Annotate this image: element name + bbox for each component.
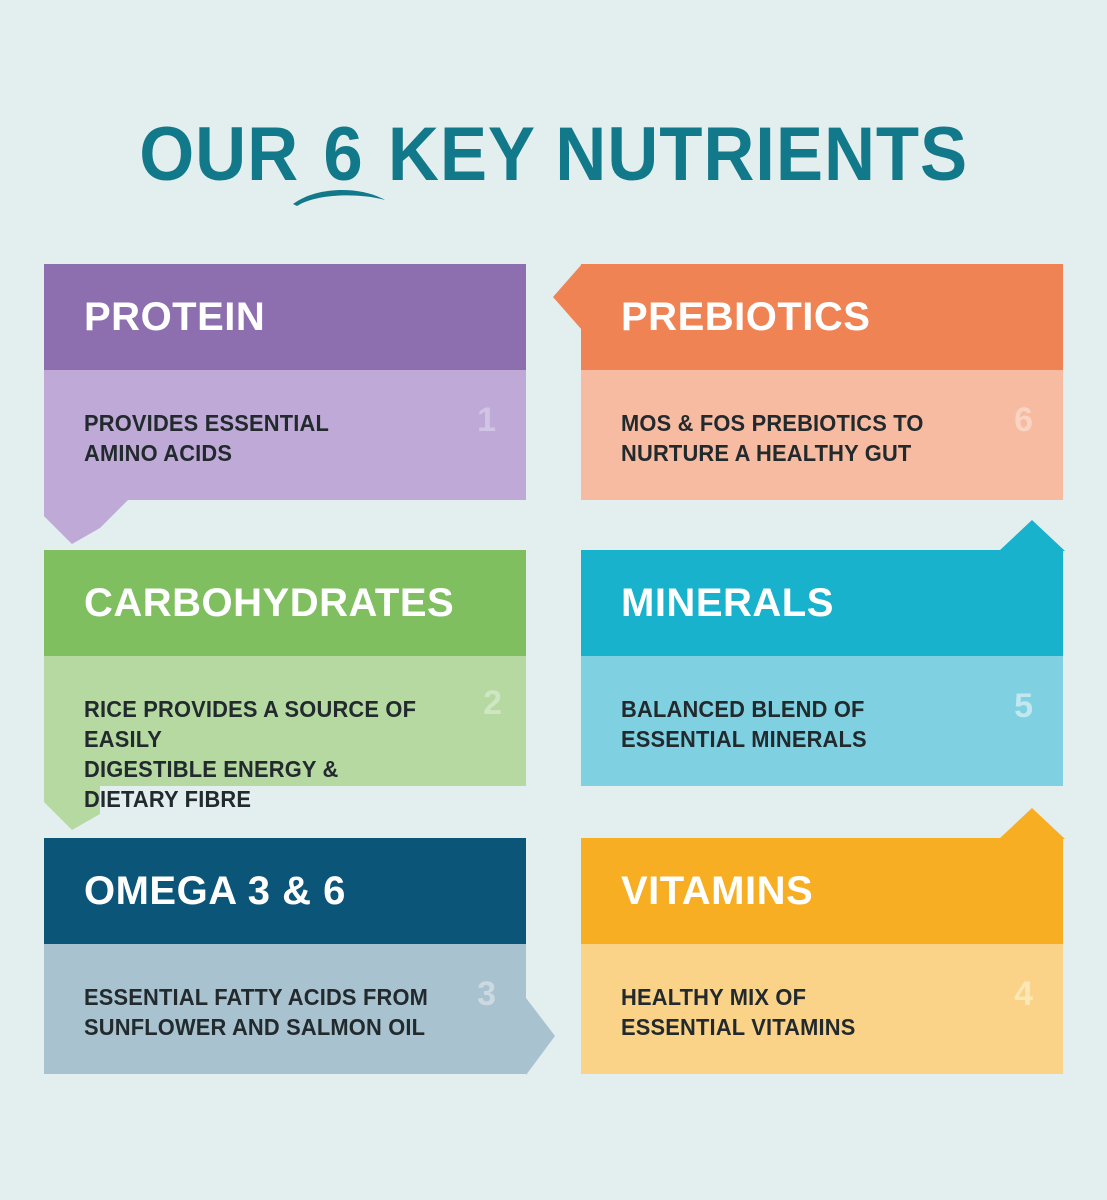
card-minerals-body: BALANCED BLEND OF ESSENTIAL MINERALS 5 [581, 656, 1063, 786]
card-carbohydrates[interactable]: CARBOHYDRATES RICE PROVIDES A SOURCE OF … [44, 550, 526, 786]
card-prebiotics-number: 6 [1014, 403, 1033, 437]
card-minerals-number: 5 [1014, 689, 1033, 723]
card-vitamins-header: VITAMINS [581, 838, 1063, 944]
card-prebiotics-header: PREBIOTICS [581, 264, 1063, 370]
card-omega-3-and-6-number: 3 [477, 977, 496, 1011]
nutrients-grid: PROTEIN PROVIDES ESSENTIAL AMINO ACIDS 1… [0, 0, 1107, 1200]
card-omega-3-and-6-header: OMEGA 3 & 6 [44, 838, 526, 944]
card-minerals-title: MINERALS [621, 581, 834, 625]
card-prebiotics-description: MOS & FOS PREBIOTICS TO NURTURE A HEALTH… [621, 408, 973, 468]
card-omega-3-and-6-title: OMEGA 3 & 6 [84, 869, 346, 913]
card-vitamins[interactable]: VITAMINS HEALTHY MIX OF ESSENTIAL VITAMI… [581, 838, 1063, 1074]
tail-left-prebiotics [553, 264, 582, 330]
card-minerals[interactable]: MINERALS BALANCED BLEND OF ESSENTIAL MIN… [581, 550, 1063, 786]
card-carbohydrates-number: 2 [483, 686, 502, 720]
tail-up-right-vitamins [999, 808, 1065, 839]
card-protein-number: 1 [477, 403, 496, 437]
card-protein-body: PROVIDES ESSENTIAL AMINO ACIDS 1 [44, 370, 526, 500]
card-vitamins-number: 4 [1014, 977, 1033, 1011]
card-carbohydrates-body: RICE PROVIDES A SOURCE OF EASILY DIGESTI… [44, 656, 526, 786]
card-carbohydrates-title: CARBOHYDRATES [84, 581, 454, 625]
card-prebiotics[interactable]: PREBIOTICS MOS & FOS PREBIOTICS TO NURTU… [581, 264, 1063, 500]
card-prebiotics-title: PREBIOTICS [621, 295, 870, 339]
card-protein-description: PROVIDES ESSENTIAL AMINO ACIDS [84, 408, 436, 468]
card-minerals-description: BALANCED BLEND OF ESSENTIAL MINERALS [621, 694, 973, 754]
card-minerals-header: MINERALS [581, 550, 1063, 656]
card-vitamins-title: VITAMINS [621, 869, 813, 913]
card-vitamins-body: HEALTHY MIX OF ESSENTIAL VITAMINS 4 [581, 944, 1063, 1074]
tail-down-left-protein [44, 500, 128, 548]
card-protein-title: PROTEIN [84, 295, 265, 339]
card-protein[interactable]: PROTEIN PROVIDES ESSENTIAL AMINO ACIDS 1 [44, 264, 526, 500]
tail-up-right-minerals [999, 520, 1065, 551]
tail-right-omega [526, 998, 555, 1075]
card-carbohydrates-description: RICE PROVIDES A SOURCE OF EASILY DIGESTI… [84, 694, 436, 814]
card-carbohydrates-header: CARBOHYDRATES [44, 550, 526, 656]
card-protein-header: PROTEIN [44, 264, 526, 370]
card-omega-3-and-6[interactable]: OMEGA 3 & 6 ESSENTIAL FATTY ACIDS FROM S… [44, 838, 526, 1074]
card-omega-3-and-6-description: ESSENTIAL FATTY ACIDS FROM SUNFLOWER AND… [84, 982, 436, 1042]
card-omega-3-and-6-body: ESSENTIAL FATTY ACIDS FROM SUNFLOWER AND… [44, 944, 526, 1074]
card-prebiotics-body: MOS & FOS PREBIOTICS TO NURTURE A HEALTH… [581, 370, 1063, 500]
card-vitamins-description: HEALTHY MIX OF ESSENTIAL VITAMINS [621, 982, 973, 1042]
